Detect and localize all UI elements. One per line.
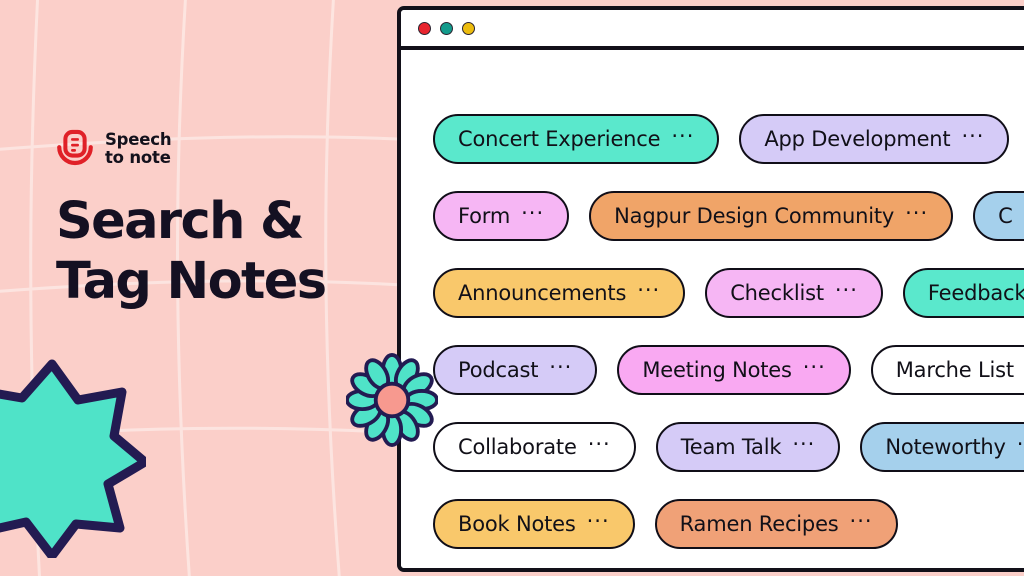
- tag-chip[interactable]: Checklist ···: [705, 268, 883, 318]
- brand-name: Speech to note: [105, 131, 171, 167]
- tag-label: Noteworthy: [885, 437, 1005, 458]
- tag-label: Feedback: [928, 283, 1024, 304]
- tag-label: Book Notes: [458, 514, 576, 535]
- hero-panel: Speech to note Search & Tag Notes: [0, 0, 400, 576]
- tag-chip[interactable]: Meeting Notes ···: [617, 345, 850, 395]
- tag-label: Collaborate: [458, 437, 577, 458]
- tag-chip[interactable]: Form ···: [433, 191, 569, 241]
- tag-label: App Development: [764, 129, 950, 150]
- tag-menu-icon[interactable]: ···: [792, 438, 815, 451]
- brand-lockup: Speech to note: [54, 128, 171, 170]
- tag-menu-icon[interactable]: ···: [637, 284, 660, 297]
- tag-label: Podcast: [458, 360, 538, 381]
- tag-chip[interactable]: Announcements ···: [433, 268, 685, 318]
- tag-menu-icon[interactable]: ···: [587, 515, 610, 528]
- tag-row: Form ··· Nagpur Design Community ··· C ·…: [433, 191, 1024, 241]
- teal-star-burst-icon: [0, 358, 146, 558]
- microphone-note-icon: [54, 128, 96, 170]
- tag-chip[interactable]: Noteworthy ···: [860, 422, 1024, 472]
- tag-row: Book Notes ··· Ramen Recipes ···: [433, 499, 898, 549]
- tag-menu-icon[interactable]: ···: [588, 438, 611, 451]
- tag-chip[interactable]: App Development ···: [739, 114, 1009, 164]
- tag-label: Nagpur Design Community: [614, 206, 894, 227]
- tag-chip[interactable]: Team Talk ···: [656, 422, 841, 472]
- tag-menu-icon[interactable]: ···: [671, 130, 694, 143]
- tag-row: Concert Experience ··· App Development ·…: [433, 114, 1009, 164]
- tag-menu-icon[interactable]: ···: [905, 207, 928, 220]
- minimize-dot[interactable]: [440, 22, 453, 35]
- teal-flower-icon: [346, 352, 438, 448]
- tag-menu-icon[interactable]: ···: [1017, 438, 1024, 451]
- tag-menu-icon[interactable]: ···: [850, 515, 873, 528]
- tag-list: Concert Experience ··· App Development ·…: [401, 50, 1024, 572]
- tag-chip[interactable]: C ···: [973, 191, 1024, 241]
- maximize-dot[interactable]: [462, 22, 475, 35]
- tag-row: Collaborate ··· Team Talk ··· Noteworthy…: [433, 422, 1024, 472]
- tag-label: Meeting Notes: [642, 360, 791, 381]
- tag-chip[interactable]: Collaborate ···: [433, 422, 636, 472]
- tag-menu-icon[interactable]: ···: [521, 207, 544, 220]
- page-title: Search & Tag Notes: [56, 192, 386, 312]
- tag-chip[interactable]: Marche List ···: [871, 345, 1024, 395]
- tag-label: Ramen Recipes: [680, 514, 839, 535]
- tag-chip[interactable]: Feedback ···: [903, 268, 1024, 318]
- tag-label: Form: [458, 206, 510, 227]
- tag-label: Announcements: [458, 283, 626, 304]
- tag-label: Concert Experience: [458, 129, 660, 150]
- tag-menu-icon[interactable]: ···: [549, 361, 572, 374]
- tag-chip[interactable]: Concert Experience ···: [433, 114, 719, 164]
- tag-label: Team Talk: [681, 437, 782, 458]
- slide-canvas: Speech to note Search & Tag Notes: [0, 0, 1024, 576]
- tag-chip[interactable]: Nagpur Design Community ···: [589, 191, 953, 241]
- tag-chip[interactable]: Ramen Recipes ···: [655, 499, 898, 549]
- tag-label: Checklist: [730, 283, 824, 304]
- tag-chip[interactable]: Book Notes ···: [433, 499, 635, 549]
- tag-row: Podcast ··· Meeting Notes ··· Marche Lis…: [433, 345, 1024, 395]
- tag-menu-icon[interactable]: ···: [835, 284, 858, 297]
- browser-window: Concert Experience ··· App Development ·…: [397, 6, 1024, 572]
- close-dot[interactable]: [418, 22, 431, 35]
- tag-menu-icon[interactable]: ···: [961, 130, 984, 143]
- tag-menu-icon[interactable]: ···: [803, 361, 826, 374]
- tag-label: Marche List: [896, 360, 1014, 381]
- window-titlebar: [401, 10, 1024, 50]
- tag-chip[interactable]: Podcast ···: [433, 345, 597, 395]
- tag-row: Announcements ··· Checklist ··· Feedback…: [433, 268, 1024, 318]
- tag-label: C: [998, 206, 1012, 227]
